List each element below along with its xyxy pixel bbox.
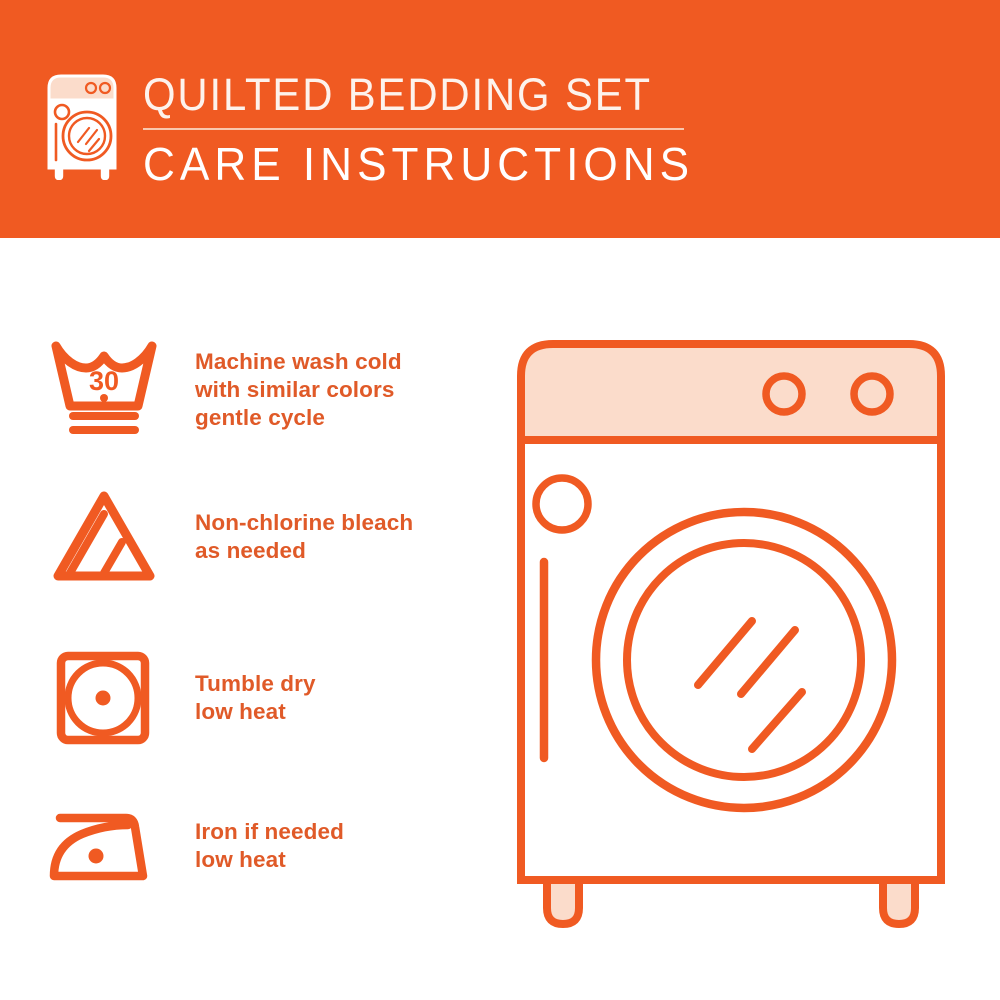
header-banner: QUILTED BEDDING SET CARE INSTRUCTIONS xyxy=(0,0,1000,238)
wash-tub-30-gentle-icon: 30 xyxy=(48,338,168,442)
door-inner-ring xyxy=(627,543,861,777)
care-text-tumble-dry: Tumble dry low heat xyxy=(195,670,468,726)
care-instruction-list: 30 Machine wash cold with similar colors… xyxy=(0,238,480,1000)
front-load-washing-machine-illustration xyxy=(495,330,975,930)
care-row-bleach: Non-chlorine bleach as needed xyxy=(48,488,468,586)
tumble-dry-low-heat-icon xyxy=(48,648,168,748)
leg-right xyxy=(883,880,915,924)
care-instructions-infographic: QUILTED BEDDING SET CARE INSTRUCTIONS 30 xyxy=(0,0,1000,1000)
care-row-wash: 30 Machine wash cold with similar colors… xyxy=(48,338,468,442)
washing-machine-icon xyxy=(45,72,127,180)
care-text-iron: Iron if needed low heat xyxy=(195,818,468,874)
care-row-iron: Iron if needed low heat xyxy=(48,800,468,892)
care-text-wash: Machine wash cold with similar colors ge… xyxy=(195,348,468,432)
page-title: QUILTED BEDDING SET xyxy=(143,70,664,120)
knob-right xyxy=(854,376,890,412)
page-subtitle: CARE INSTRUCTIONS xyxy=(143,138,681,190)
care-row-tumble-dry: Tumble dry low heat xyxy=(48,648,468,748)
title-divider xyxy=(143,128,684,130)
leg-left xyxy=(547,880,579,924)
care-text-bleach: Non-chlorine bleach as needed xyxy=(195,509,468,565)
knob-left xyxy=(766,376,802,412)
non-chlorine-bleach-triangle-icon xyxy=(48,488,168,586)
header-text-block: QUILTED BEDDING SET CARE INSTRUCTIONS xyxy=(143,70,703,190)
wash-temperature-label: 30 xyxy=(89,366,119,396)
indicator-light xyxy=(536,478,588,530)
iron-low-heat-icon xyxy=(48,800,168,892)
